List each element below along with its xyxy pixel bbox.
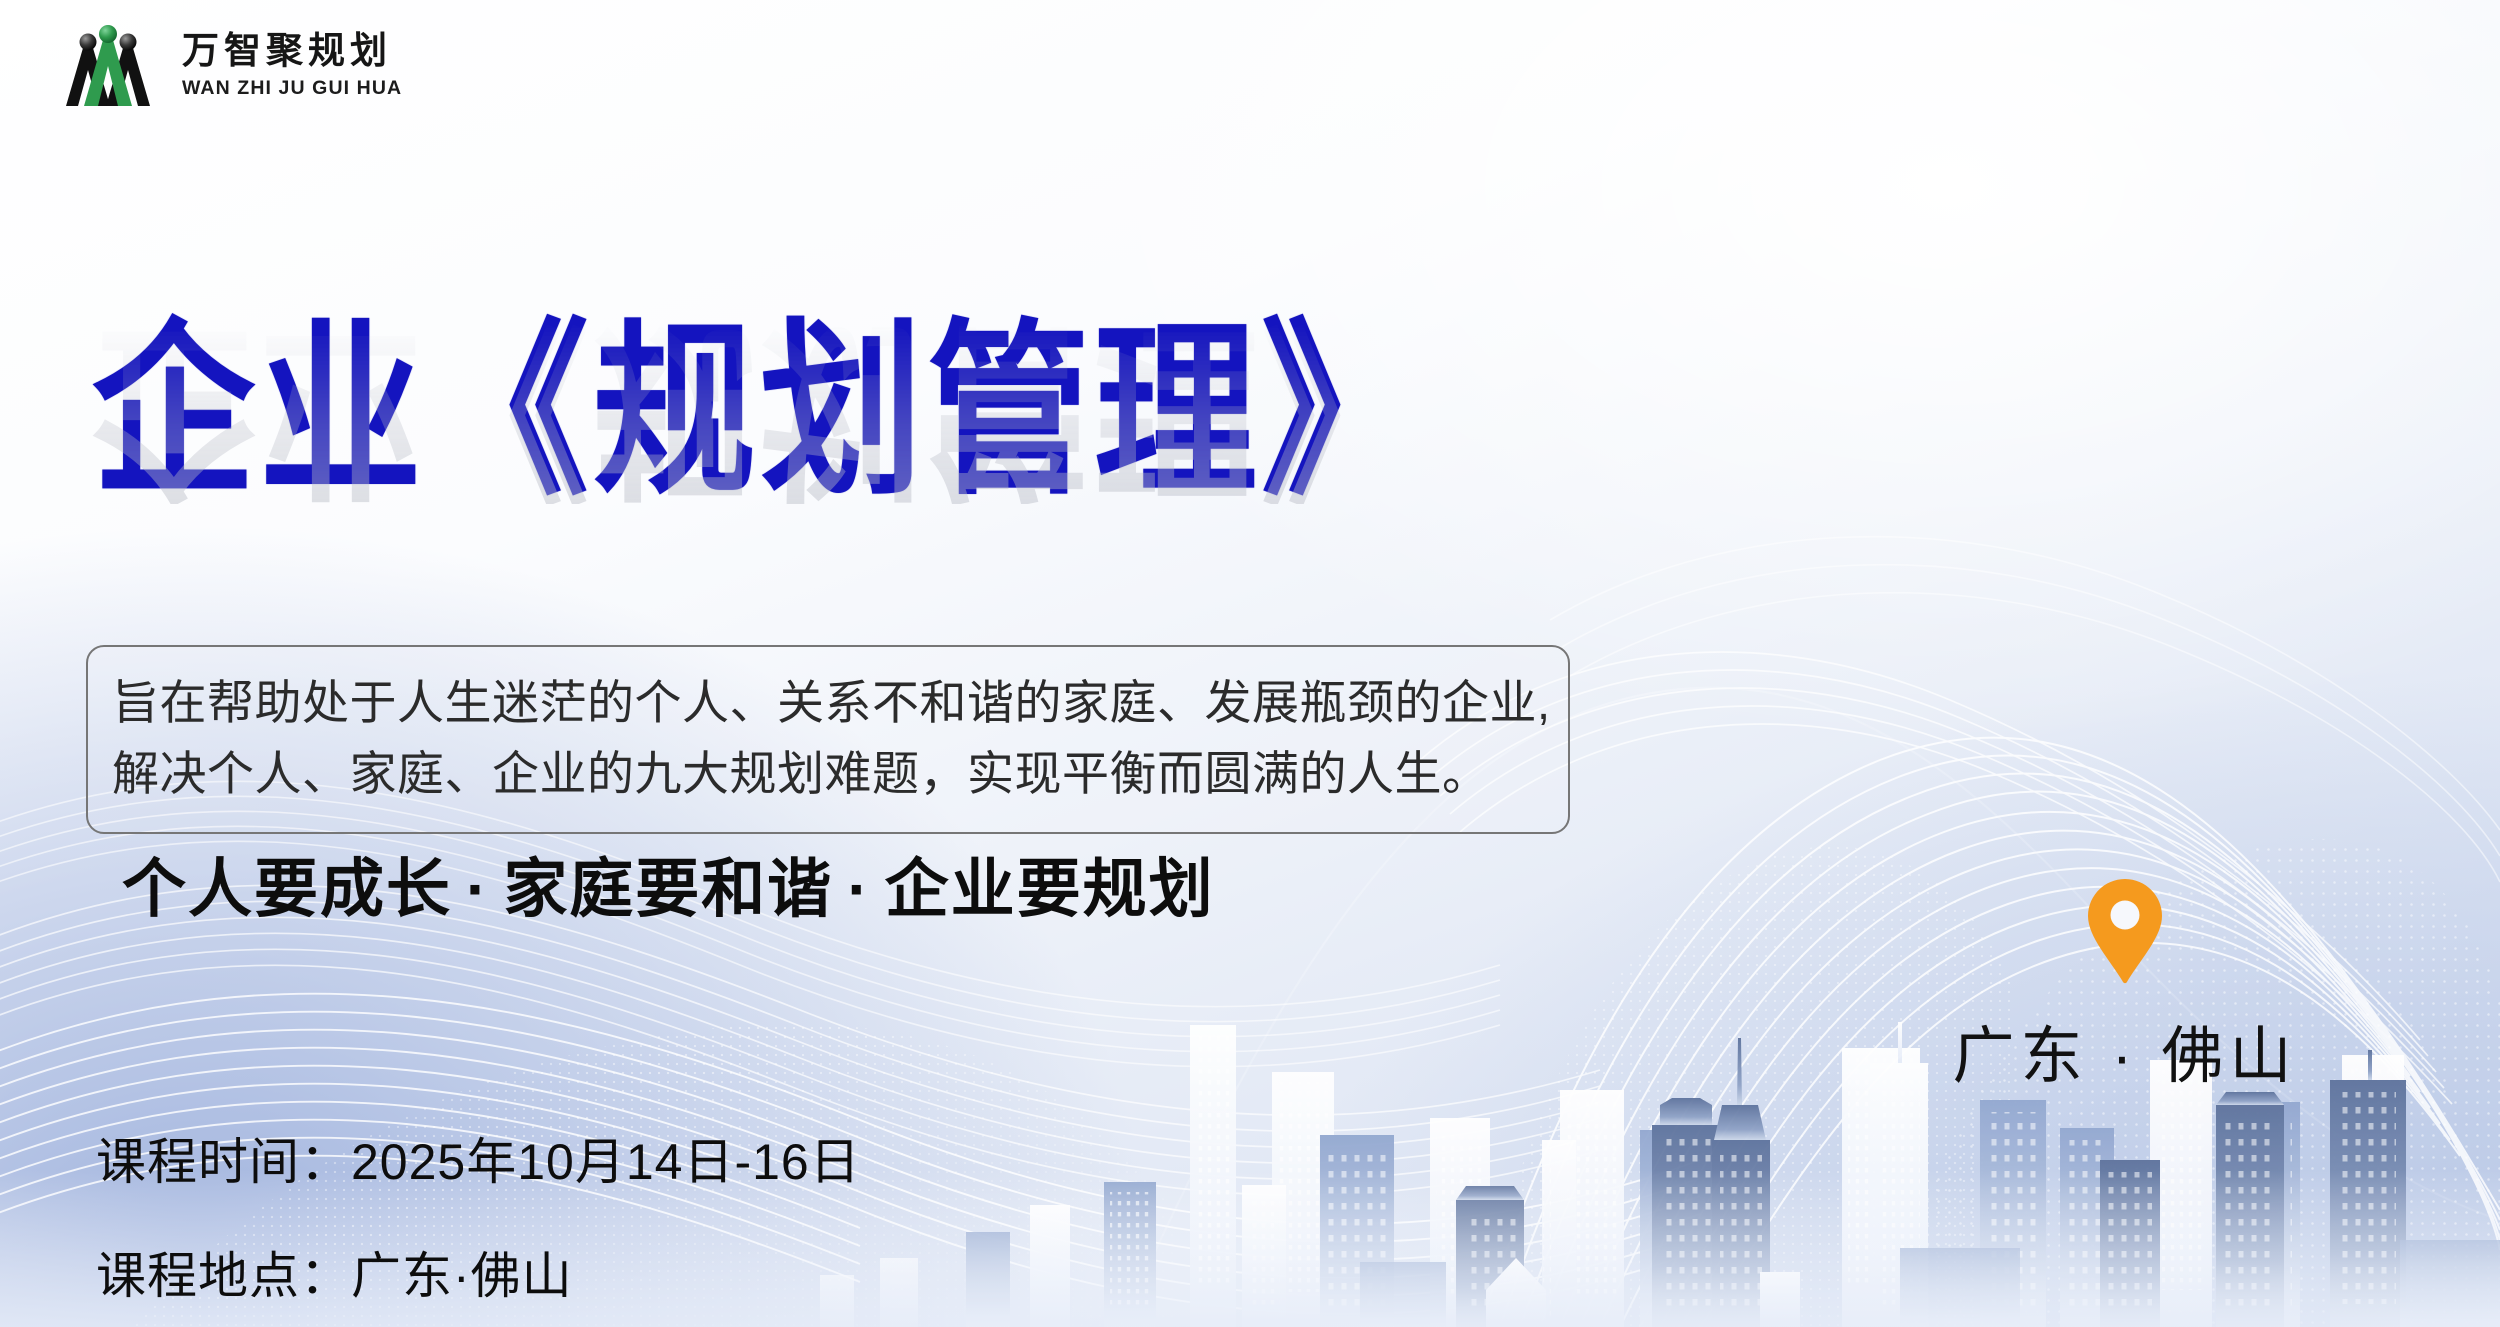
slogan-part-2: 家庭要和谐	[503, 853, 833, 925]
brand-logo: 万智聚规划 WAN ZHI JU GUI HUA	[52, 20, 402, 112]
location-badge-label: 广东 · 佛山	[1952, 1005, 2297, 1095]
slogan-part-1: 个人要成长	[122, 853, 452, 925]
poster-canvas: 万智聚规划 WAN ZHI JU GUI HUA 企业《规划管理》 企业《规划管…	[0, 0, 2500, 1327]
course-time-value: 2025年10月14日-16日	[351, 1134, 861, 1190]
slogan-separator-2: ·	[833, 853, 884, 925]
course-time-row: 课程时间：2025年10月14日-16日	[96, 1122, 861, 1194]
description-line-2: 解决个人、家庭、企业的九大规划难题，实现平衡而圆满的人生。	[112, 738, 1544, 809]
page-title-reflection: 企业《规划管理》	[92, 313, 1428, 504]
description-box: 旨在帮助处于人生迷茫的个人、关系不和谐的家庭、发展瓶颈的企业, 解决个人、家庭、…	[86, 645, 1570, 834]
course-place-label: 课程地点：	[96, 1248, 351, 1304]
slogan-part-3: 企业要规划	[885, 853, 1215, 925]
hero-title-block: 企业《规划管理》 企业《规划管理》	[92, 316, 1428, 482]
course-info-block: 课程时间：2025年10月14日-16日 课程地点：广东·佛山	[96, 1122, 861, 1308]
three-people-logo-icon	[52, 20, 164, 112]
location-badge: 广东 · 佛山	[1955, 875, 2295, 1095]
description-line-1: 旨在帮助处于人生迷茫的个人、关系不和谐的家庭、发展瓶颈的企业,	[112, 667, 1544, 738]
course-place-value: 广东·佛山	[351, 1248, 573, 1304]
slogan-line: 个人要成长·家庭要和谐·企业要规划	[122, 838, 1215, 930]
map-pin-icon	[2083, 875, 2167, 987]
brand-name-en: WAN ZHI JU GUI HUA	[182, 79, 402, 99]
course-place-row: 课程地点：广东·佛山	[96, 1236, 861, 1308]
brand-name-cn: 万智聚规划	[182, 33, 402, 70]
brand-logo-text: 万智聚规划 WAN ZHI JU GUI HUA	[182, 33, 402, 99]
slogan-separator-1: ·	[452, 853, 503, 925]
course-time-label: 课程时间：	[96, 1134, 351, 1190]
